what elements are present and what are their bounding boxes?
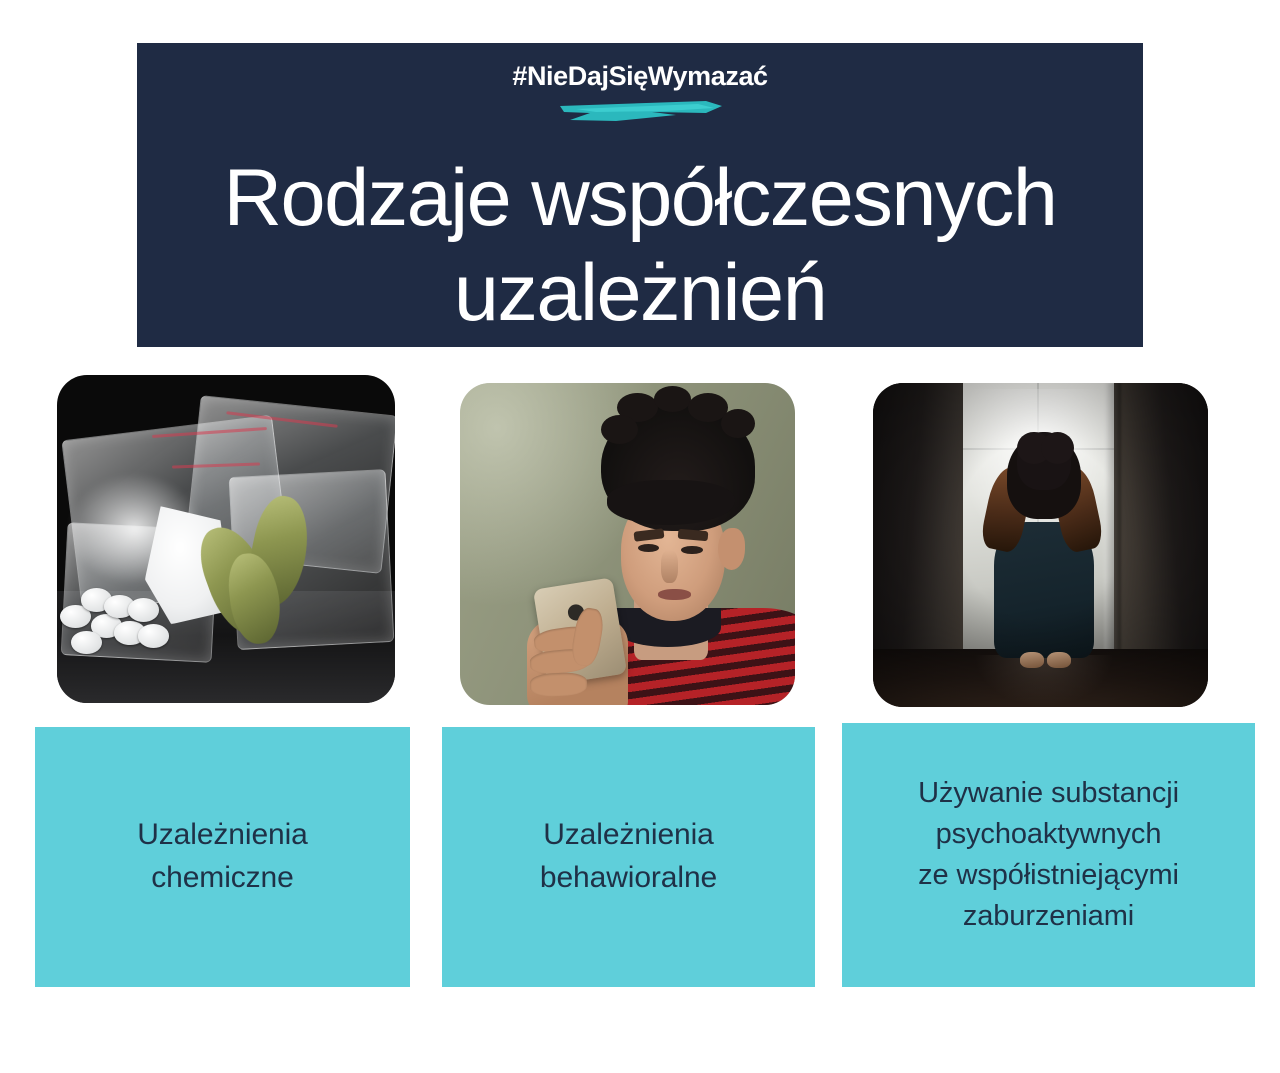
mouth xyxy=(658,589,692,600)
teen-using-smartphone-photo xyxy=(460,383,795,705)
hair-curl xyxy=(601,415,638,444)
caption-box-chemical-addictions: Uzależnienia chemiczne xyxy=(35,727,410,987)
caption-label: Używanie substancji psychoaktywnych ze w… xyxy=(918,773,1179,938)
ear xyxy=(718,528,745,570)
hair-curl xyxy=(654,386,691,412)
campaign-hashtag-block: #NieDajSięWymazać xyxy=(137,63,1143,90)
dried-cannabis-group xyxy=(206,490,328,647)
page-title: Rodzaje współczesnych uzależnień xyxy=(167,151,1113,341)
white-pill xyxy=(71,631,102,655)
caption-label: Uzależnienia chemiczne xyxy=(137,814,308,899)
hair-fringe xyxy=(607,480,734,525)
person-head-in-hands-photo xyxy=(873,383,1208,707)
eye xyxy=(681,546,703,554)
nose xyxy=(661,550,678,582)
caption-box-behavioral-addictions: Uzależnienia behawioralne xyxy=(442,727,815,987)
white-pill xyxy=(128,598,159,622)
photo-card-co-occurring-disorders xyxy=(873,383,1208,707)
photo-card-behavioral-addictions xyxy=(460,383,795,705)
photo-vignette xyxy=(873,383,1208,707)
header-banner: #NieDajSięWymazać Rodzaje współczesnych … xyxy=(137,43,1143,347)
white-pill xyxy=(138,624,169,648)
caption-box-co-occurring-disorders: Używanie substancji psychoaktywnych ze w… xyxy=(842,723,1255,987)
photo-card-chemical-addictions xyxy=(57,375,395,703)
finger xyxy=(530,672,588,697)
hair-curl xyxy=(721,409,755,438)
campaign-hashtag-text: #NieDajSięWymazać xyxy=(137,63,1143,90)
drugs-in-plastic-baggies-photo xyxy=(57,375,395,703)
brush-stroke-icon xyxy=(556,97,726,125)
caption-label: Uzależnienia behawioralne xyxy=(540,814,717,899)
